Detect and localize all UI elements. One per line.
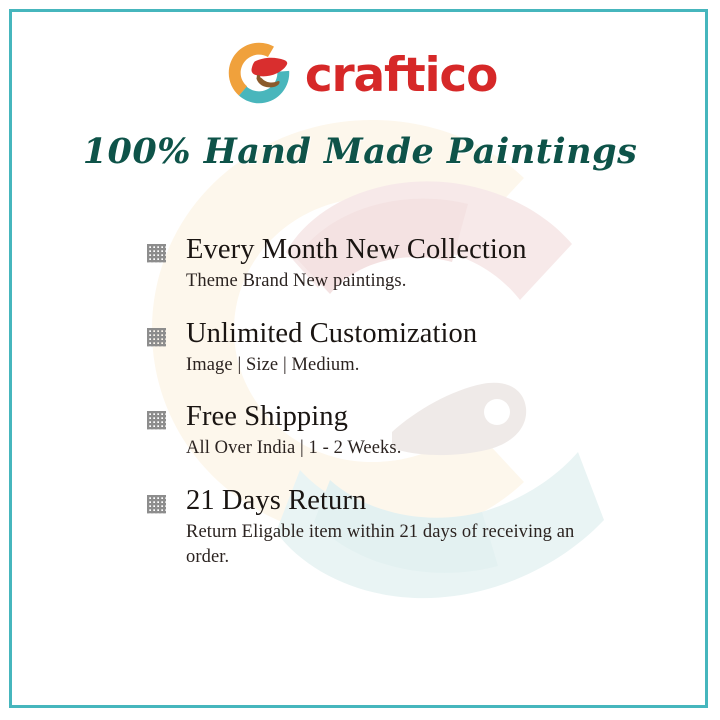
feature-text: Free Shipping All Over India | 1 - 2 Wee… [186,401,616,461]
feature-subtitle: Image | Size | Medium. [186,353,616,378]
feature-item: Unlimited Customization Image | Size | M… [146,318,616,378]
feature-text: Every Month New Collection Theme Brand N… [186,234,616,294]
feature-subtitle: Theme Brand New paintings. [186,269,616,294]
woven-grid-bullet-icon [146,410,167,431]
feature-subtitle: Return Eligable item within 21 days of r… [186,520,616,570]
brand-logo-lockup: craftico [0,34,720,112]
feature-subtitle: All Over India | 1 - 2 Weeks. [186,436,616,461]
feature-title: 21 Days Return [186,485,616,517]
logo-brown-brush-tip [257,75,261,79]
feature-title: Free Shipping [186,401,616,433]
brand-wordmark: craftico [305,52,497,99]
craftico-logo-icon [223,37,295,109]
feature-title: Unlimited Customization [186,318,616,350]
feature-text: Unlimited Customization Image | Size | M… [186,318,616,378]
woven-grid-bullet-icon [146,243,167,264]
logo-brown-brush-handle [256,77,279,87]
feature-item: 21 Days Return Return Eligable item with… [146,485,616,569]
headline: 100% Hand Made Paintings [0,131,720,172]
promo-banner: craftico 100% Hand Made Paintings [0,0,720,720]
woven-grid-bullet-icon [146,327,167,348]
feature-text: 21 Days Return Return Eligable item with… [186,485,616,569]
feature-item: Free Shipping All Over India | 1 - 2 Wee… [146,401,616,461]
feature-title: Every Month New Collection [186,234,616,266]
woven-grid-bullet-icon [146,494,167,515]
feature-item: Every Month New Collection Theme Brand N… [146,234,616,294]
feature-list: Every Month New Collection Theme Brand N… [146,234,616,570]
